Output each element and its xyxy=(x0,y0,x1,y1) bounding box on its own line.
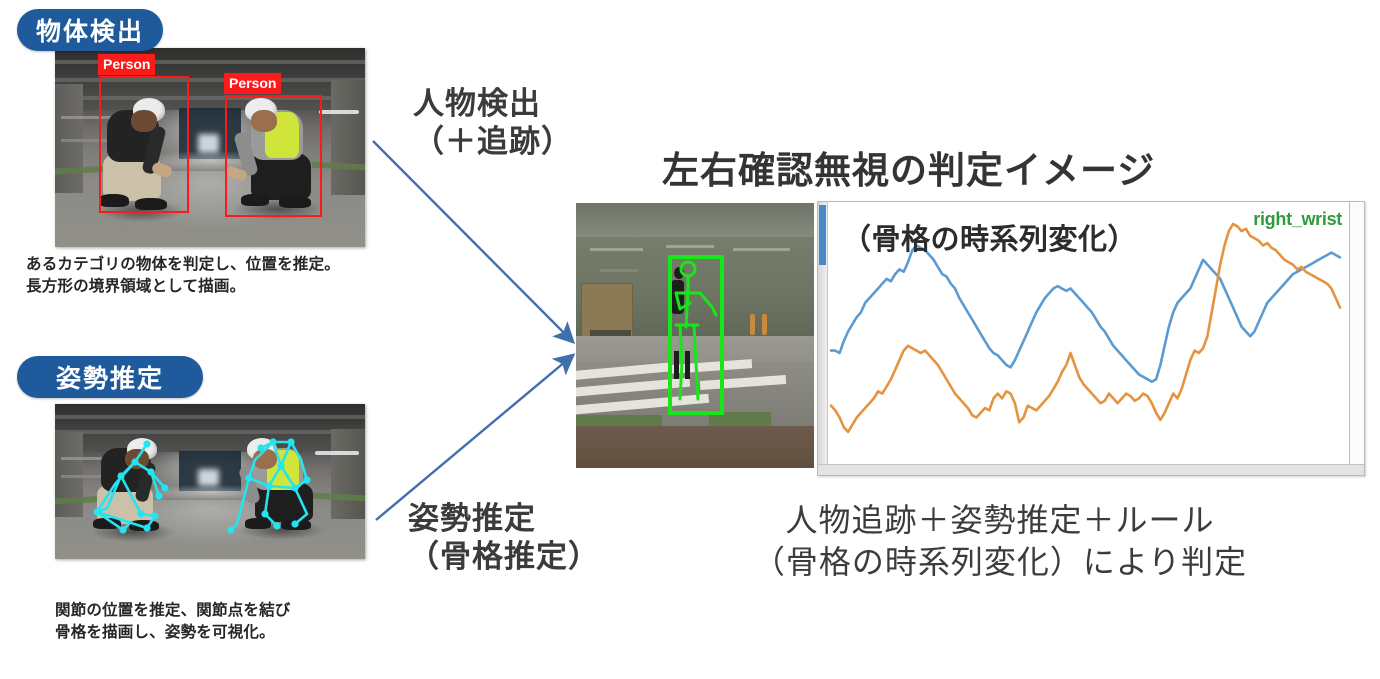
arrow-pose-to-output xyxy=(376,356,572,520)
label-pose-estimation: 姿勢推定 （骨格推定） xyxy=(408,500,600,576)
bounding-box-person-1 xyxy=(99,76,189,213)
lamp-glow xyxy=(198,134,220,154)
bbox-label-person-1: Person xyxy=(98,54,155,75)
object-detection-photo: Person Person xyxy=(55,48,365,247)
pillar-right xyxy=(331,80,365,195)
pose-estimation-photo xyxy=(55,404,365,559)
summary-footer-text: 人物追跡＋姿勢推定＋ルール （骨格の時系列変化）により判定 xyxy=(700,500,1300,583)
arrow-detection-to-output xyxy=(373,141,572,341)
slide-canvas: 物体検出 xyxy=(0,0,1380,679)
lamp-strip xyxy=(319,110,359,114)
timeseries-chart-panel: （骨格の時系列変化） right_wrist xyxy=(817,201,1365,476)
object-detection-caption: あるカテゴリの物体を判定し、位置を推定。 長方形の境界領域として描画。 xyxy=(26,254,340,298)
chart-scrollbar-thumb[interactable] xyxy=(819,205,826,265)
label-person-detection: 人物検出 （＋追跡） xyxy=(413,85,573,161)
skeleton-overlay xyxy=(55,404,365,559)
badge-pose-estimation: 姿勢推定 xyxy=(17,356,203,398)
series-line-blue-joint xyxy=(831,246,1340,382)
chart-right-gutter xyxy=(1349,202,1364,475)
badge-object-detection: 物体検出 xyxy=(17,9,163,51)
tracking-skeleton-overlay xyxy=(576,203,814,468)
chart-legend-right-wrist: right_wrist xyxy=(1253,209,1342,230)
pose-estimation-caption: 関節の位置を推定、関節点を結び 骨格を描画し、姿勢を可視化。 xyxy=(55,600,291,644)
chart-bottom-gutter xyxy=(818,464,1364,475)
chart-overlay-caption: （骨格の時系列変化） xyxy=(842,216,1137,258)
page-title: 左右確認無視の判定イメージ xyxy=(662,140,1155,194)
bbox-label-person-2: Person xyxy=(224,73,281,94)
tracking-video-frame xyxy=(576,203,814,468)
bounding-box-person-2 xyxy=(225,95,322,217)
chart-scrollbar[interactable] xyxy=(818,202,828,475)
